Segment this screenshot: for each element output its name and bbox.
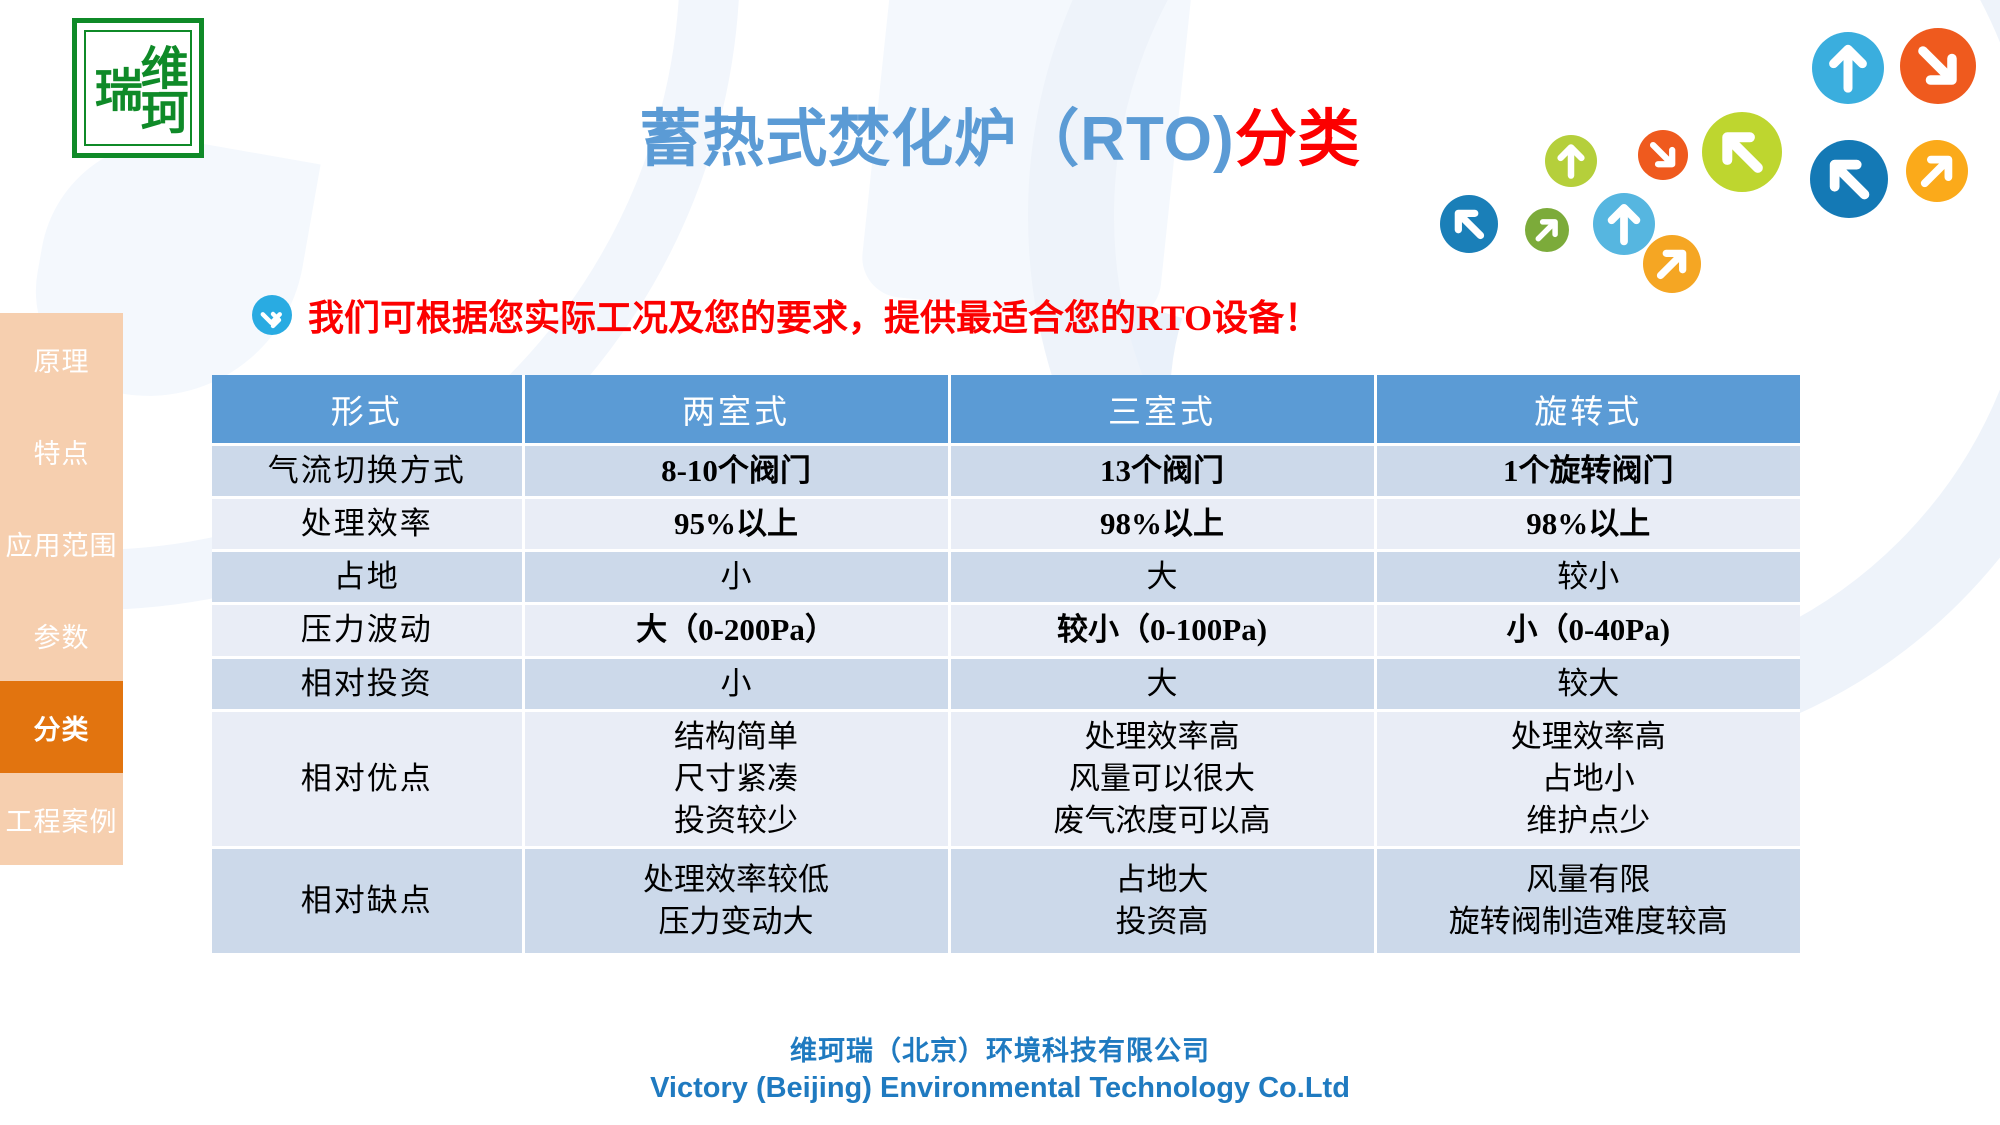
cell-lines: 1个旋转阀门 (1379, 450, 1799, 492)
arrow-up-right-amber-icon (1643, 235, 1701, 293)
circle-arrow-down-right-icon (252, 295, 292, 335)
footer: 维珂瑞（北京）环境科技有限公司 Victory (Beijing) Enviro… (0, 1029, 2000, 1105)
cell-lines: 结构简单尺寸紧凑投资较少 (527, 716, 946, 842)
table-header-row: 形式两室式三室式旋转式 (212, 375, 1800, 445)
table-row-label: 相对优点 (212, 710, 523, 847)
cell-line: 处理效率高 (1379, 716, 1799, 758)
table-cell-r2-c1: 95%以上 (523, 498, 949, 551)
cell-line: 8-10个阀门 (527, 450, 946, 492)
cell-lines: 小 (527, 556, 946, 598)
cell-line: 小（0-40Pa) (1379, 609, 1799, 651)
cell-line: 较小（0-100Pa) (953, 609, 1372, 651)
table-body: 气流切换方式8-10个阀门13个阀门1个旋转阀门处理效率95%以上98%以上98… (212, 445, 1800, 954)
table-row: 相对优点结构简单尺寸紧凑投资较少处理效率高风量可以很大废气浓度可以高处理效率高占… (212, 710, 1800, 847)
cell-line: 占地小 (1379, 758, 1799, 800)
table-cell-r4-c2: 较小（0-100Pa) (949, 604, 1375, 657)
rto-comparison-table: 形式两室式三室式旋转式 气流切换方式8-10个阀门13个阀门1个旋转阀门处理效率… (212, 375, 1800, 953)
table-cell-r1-c1: 8-10个阀门 (523, 445, 949, 498)
table-row: 气流切换方式8-10个阀门13个阀门1个旋转阀门 (212, 445, 1800, 498)
table-cell-r6-c1: 结构简单尺寸紧凑投资较少 (523, 710, 949, 847)
table-row: 压力波动大（0-200Pa）较小（0-100Pa)小（0-40Pa) (212, 604, 1800, 657)
cell-lines: 较小 (1379, 556, 1799, 598)
table-cell-r7-c3: 风量有限旋转阀制造难度较高 (1375, 848, 1800, 954)
sidebar-item-3[interactable]: 应用范围 (0, 497, 123, 589)
table-cell-r6-c3: 处理效率高占地小维护点少 (1375, 710, 1800, 847)
cell-line: 占地大 (953, 859, 1372, 901)
table-row-label: 处理效率 (212, 498, 523, 551)
table-row-label: 气流切换方式 (212, 445, 523, 498)
cell-lines: 处理效率高风量可以很大废气浓度可以高 (953, 716, 1372, 842)
sidebar-item-4[interactable]: 参数 (0, 589, 123, 681)
cell-line: 98%以上 (1379, 503, 1799, 545)
cell-line: 大 (953, 556, 1372, 598)
table-row: 占地小大较小 (212, 551, 1800, 604)
cell-line: 1个旋转阀门 (1379, 450, 1799, 492)
table-col-header-1: 形式 (212, 375, 523, 445)
cell-line: 小 (527, 663, 946, 705)
cell-lines: 占地大投资高 (953, 859, 1372, 943)
footer-company-cn: 维珂瑞（北京）环境科技有限公司 (0, 1029, 2000, 1068)
cell-lines: 8-10个阀门 (527, 450, 946, 492)
cell-line: 压力变动大 (527, 901, 946, 943)
cell-lines: 较小（0-100Pa) (953, 609, 1372, 651)
cell-line: 小 (527, 556, 946, 598)
table-row: 相对缺点处理效率较低压力变动大占地大投资高风量有限旋转阀制造难度较高 (212, 848, 1800, 954)
cell-line: 95%以上 (527, 503, 946, 545)
cell-lines: 小（0-40Pa) (1379, 609, 1799, 651)
cell-lines: 98%以上 (953, 503, 1372, 545)
table-row-label: 占地 (212, 551, 523, 604)
cell-line: 13个阀门 (953, 450, 1372, 492)
table-row-label: 压力波动 (212, 604, 523, 657)
sidebar-item-2[interactable]: 特点 (0, 405, 123, 497)
table-row-label: 相对投资 (212, 657, 523, 710)
table-cell-r2-c3: 98%以上 (1375, 498, 1800, 551)
cell-line: 大（0-200Pa） (527, 609, 946, 651)
sidebar-item-label: 应用范围 (6, 524, 118, 563)
sidebar-item-label: 分类 (34, 708, 90, 747)
sidebar-item-6[interactable]: 工程案例 (0, 773, 123, 865)
table-cell-r6-c2: 处理效率高风量可以很大废气浓度可以高 (949, 710, 1375, 847)
cell-line: 废气浓度可以高 (953, 800, 1372, 842)
cell-line: 风量可以很大 (953, 758, 1372, 800)
arrow-up-left-medium-blue-icon (1440, 195, 1498, 253)
table-col-header-3: 三室式 (949, 375, 1375, 445)
sidebar-item-label: 特点 (34, 432, 90, 471)
cell-line: 98%以上 (953, 503, 1372, 545)
cell-line: 维护点少 (1379, 800, 1799, 842)
cell-line: 尺寸紧凑 (527, 758, 946, 800)
table-cell-r7-c1: 处理效率较低压力变动大 (523, 848, 949, 954)
page-title: 蓄热式焚化炉（RTO)分类 (0, 88, 2000, 178)
cell-line: 投资高 (953, 901, 1372, 943)
table-col-header-4: 旋转式 (1375, 375, 1800, 445)
table-cell-r5-c2: 大 (949, 657, 1375, 710)
cell-lines: 95%以上 (527, 503, 946, 545)
sidebar-item-label: 工程案例 (6, 800, 118, 839)
table-row: 处理效率95%以上98%以上98%以上 (212, 498, 1800, 551)
sidebar-item-1[interactable]: 原理 (0, 313, 123, 405)
cell-line: 处理效率高 (953, 716, 1372, 758)
page-title-blue: 蓄热式焚化炉（RTO) (639, 105, 1234, 174)
cell-lines: 大 (953, 663, 1372, 705)
sidebar-item-label: 原理 (34, 340, 90, 379)
cell-lines: 风量有限旋转阀制造难度较高 (1379, 859, 1799, 943)
table-cell-r3-c2: 大 (949, 551, 1375, 604)
cell-line: 投资较少 (527, 800, 946, 842)
cell-lines: 13个阀门 (953, 450, 1372, 492)
cell-line: 结构简单 (527, 716, 946, 758)
arrow-up-right-olive-small-icon (1525, 208, 1569, 252)
subtitle-text: 我们可根据您实际工况及您的要求，提供最适合您的RTO设备！ (308, 289, 1320, 341)
cell-lines: 较大 (1379, 663, 1799, 705)
sidebar-item-5[interactable]: 分类 (0, 681, 123, 773)
cell-line: 较小 (1379, 556, 1799, 598)
table-cell-r5-c1: 小 (523, 657, 949, 710)
cell-lines: 大 (953, 556, 1372, 598)
table-row: 相对投资小大较大 (212, 657, 1800, 710)
table-row-label: 相对缺点 (212, 848, 523, 954)
cell-line: 旋转阀制造难度较高 (1379, 901, 1799, 943)
cell-lines: 小 (527, 663, 946, 705)
cell-line: 处理效率较低 (527, 859, 946, 901)
footer-company-en: Victory (Beijing) Environmental Technolo… (0, 1072, 2000, 1105)
table-header: 形式两室式三室式旋转式 (212, 375, 1800, 445)
cell-lines: 98%以上 (1379, 503, 1799, 545)
slide-canvas: 维珂瑞 蓄热式焚化炉（RTO)分类 原理特点应用范围参数分类工程案例 我们可根据… (0, 0, 2000, 1125)
table-cell-r7-c2: 占地大投资高 (949, 848, 1375, 954)
cell-line: 较大 (1379, 663, 1799, 705)
subtitle-row: 我们可根据您实际工况及您的要求，提供最适合您的RTO设备！ (252, 289, 1320, 341)
cell-line: 大 (953, 663, 1372, 705)
table-cell-r4-c3: 小（0-40Pa) (1375, 604, 1800, 657)
table-col-header-2: 两室式 (523, 375, 949, 445)
page-title-red: 分类 (1235, 105, 1361, 174)
table-cell-r3-c3: 较小 (1375, 551, 1800, 604)
table-cell-r3-c1: 小 (523, 551, 949, 604)
sidebar-item-label: 参数 (34, 616, 90, 655)
cell-lines: 处理效率较低压力变动大 (527, 859, 946, 943)
cell-lines: 处理效率高占地小维护点少 (1379, 716, 1799, 842)
table-cell-r1-c2: 13个阀门 (949, 445, 1375, 498)
table-cell-r1-c3: 1个旋转阀门 (1375, 445, 1800, 498)
table-cell-r5-c3: 较大 (1375, 657, 1800, 710)
table-cell-r4-c1: 大（0-200Pa） (523, 604, 949, 657)
table-cell-r2-c2: 98%以上 (949, 498, 1375, 551)
cell-lines: 大（0-200Pa） (527, 609, 946, 651)
cell-line: 风量有限 (1379, 859, 1799, 901)
sidebar-nav[interactable]: 原理特点应用范围参数分类工程案例 (0, 313, 123, 865)
